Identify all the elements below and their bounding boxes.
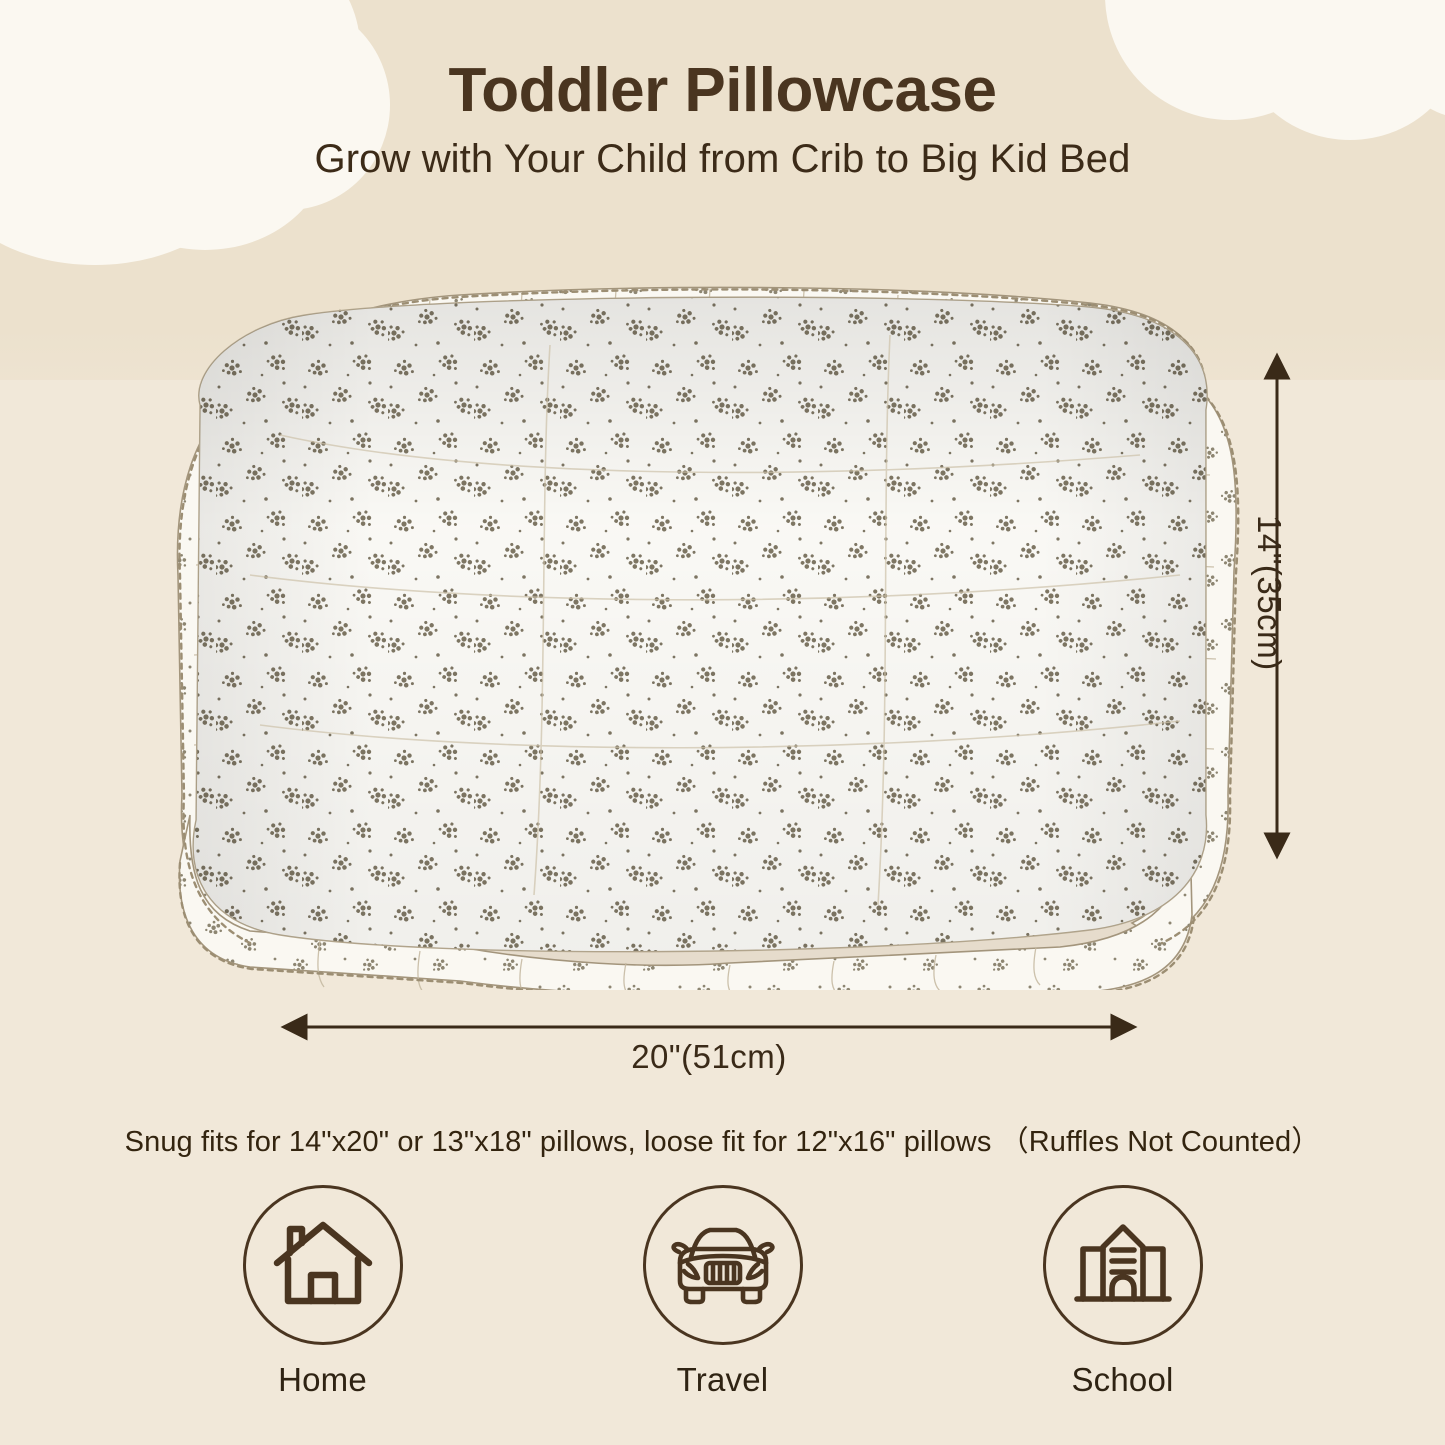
- car-icon: [666, 1219, 780, 1311]
- infographic-page: Toddler Pillowcase Grow with Your Child …: [0, 0, 1445, 1445]
- house-icon: [269, 1215, 377, 1315]
- pillow-body: [130, 275, 1240, 990]
- width-dimension-label: 20"(51cm): [0, 1038, 1418, 1076]
- school-building-icon: [1069, 1217, 1177, 1313]
- usage-circle-school: [1043, 1185, 1203, 1345]
- pillowcase-illustration: [130, 275, 1240, 990]
- usage-label-travel: Travel: [677, 1361, 769, 1399]
- page-subtitle: Grow with Your Child from Crib to Big Ki…: [0, 137, 1445, 182]
- page-title: Toddler Pillowcase: [0, 58, 1445, 123]
- usage-label-home: Home: [278, 1361, 367, 1399]
- usage-item-school[interactable]: School: [1018, 1185, 1228, 1399]
- usage-circle-home: [243, 1185, 403, 1345]
- header: Toddler Pillowcase Grow with Your Child …: [0, 58, 1445, 182]
- height-dimension-label: 14"(35cm): [1250, 515, 1288, 671]
- usage-label-school: School: [1071, 1361, 1173, 1399]
- usage-circle-travel: [643, 1185, 803, 1345]
- usage-scenarios: Home Travel: [0, 1185, 1445, 1399]
- usage-item-travel[interactable]: Travel: [618, 1185, 828, 1399]
- fit-note: Snug fits for 14"x20" or 13"x18" pillows…: [0, 1118, 1445, 1160]
- usage-item-home[interactable]: Home: [218, 1185, 428, 1399]
- product-photo: [130, 275, 1240, 990]
